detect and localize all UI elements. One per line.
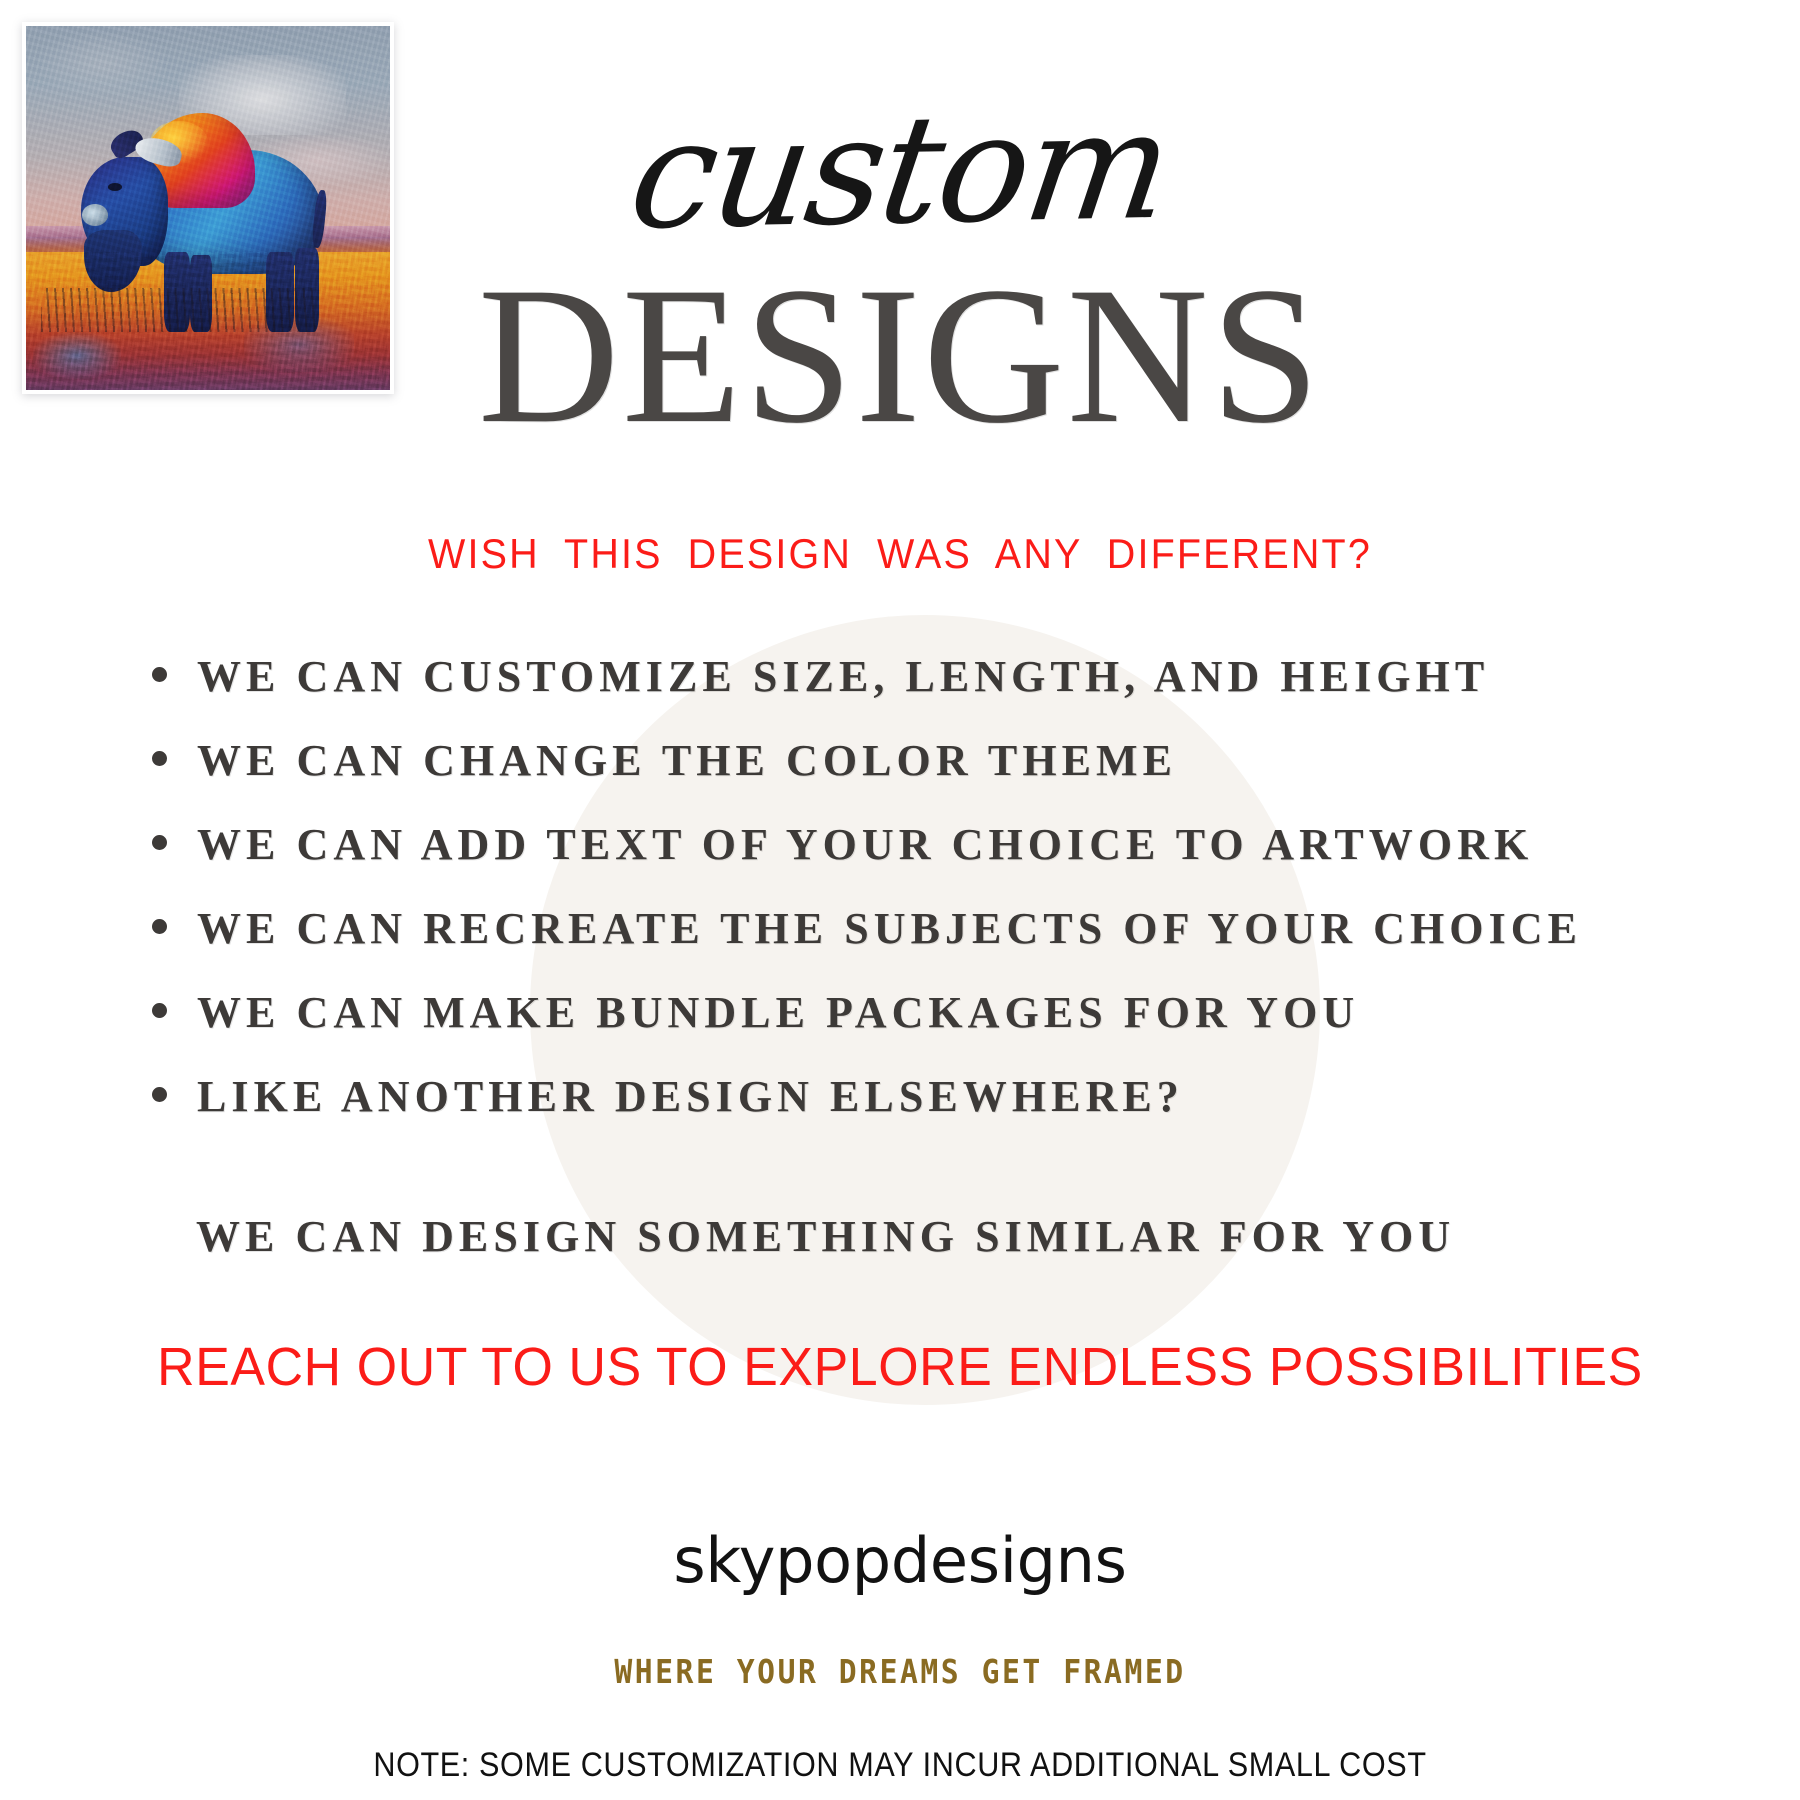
painting-ground-texture <box>26 252 390 390</box>
bullet-dot-icon <box>152 919 167 934</box>
footnote-note: NOTE: SOME CUSTOMIZATION MAY INCUR ADDIT… <box>90 1748 1710 1782</box>
bullet-dot-icon <box>152 1087 167 1102</box>
bullet-dot-icon <box>152 751 167 766</box>
benefit-label: WE CAN RECREATE THE SUBJECTS OF YOUR CHO… <box>197 907 1582 951</box>
list-item: WE CAN MAKE BUNDLE PACKAGES FOR YOU <box>0 991 1800 1075</box>
bullet-dot-icon <box>152 667 167 682</box>
bison-eye <box>108 183 123 191</box>
benefit-list: WE CAN CUSTOMIZE SIZE, LENGTH, AND HEIGH… <box>0 655 1800 1159</box>
bullet-dot-icon <box>152 835 167 850</box>
call-to-action-text: REACH OUT TO US TO EXPLORE ENDLESS POSSI… <box>36 1340 1764 1394</box>
benefit-label: LIKE ANOTHER DESIGN ELSEWHERE? <box>197 1075 1184 1119</box>
benefit-label: WE CAN CHANGE THE COLOR THEME <box>197 739 1177 783</box>
custom-designs-promo-graphic: custom DESIGNS WISH THIS DESIGN WAS ANY … <box>0 0 1800 1800</box>
bison-painting-image <box>26 26 390 390</box>
brand-tagline: WHERE YOUR DREAMS GET FRAMED <box>90 1655 1710 1688</box>
benefit-continuation-line: WE CAN DESIGN SOMETHING SIMILAR FOR YOU <box>0 1215 1800 1259</box>
subheading-question: WISH THIS DESIGN WAS ANY DIFFERENT? <box>54 533 1746 575</box>
bullet-dot-icon <box>152 1003 167 1018</box>
benefit-label: WE CAN CUSTOMIZE SIZE, LENGTH, AND HEIGH… <box>197 655 1489 699</box>
benefit-label: WE CAN MAKE BUNDLE PACKAGES FOR YOU <box>197 991 1359 1035</box>
list-item: WE CAN ADD TEXT OF YOUR CHOICE TO ARTWOR… <box>0 823 1800 907</box>
list-item: LIKE ANOTHER DESIGN ELSEWHERE? <box>0 1075 1800 1159</box>
list-item: WE CAN CHANGE THE COLOR THEME <box>0 739 1800 823</box>
bison-muzzle <box>82 204 107 226</box>
artwork-thumbnail-card[interactable] <box>22 22 394 394</box>
list-item: WE CAN RECREATE THE SUBJECTS OF YOUR CHO… <box>0 907 1800 991</box>
painting-cloud-b <box>41 33 165 95</box>
benefit-label: WE CAN ADD TEXT OF YOUR CHOICE TO ARTWOR… <box>197 823 1533 867</box>
brand-logo-wordmark: skypopdesigns <box>0 1530 1800 1592</box>
list-item: WE CAN CUSTOMIZE SIZE, LENGTH, AND HEIGH… <box>0 655 1800 739</box>
